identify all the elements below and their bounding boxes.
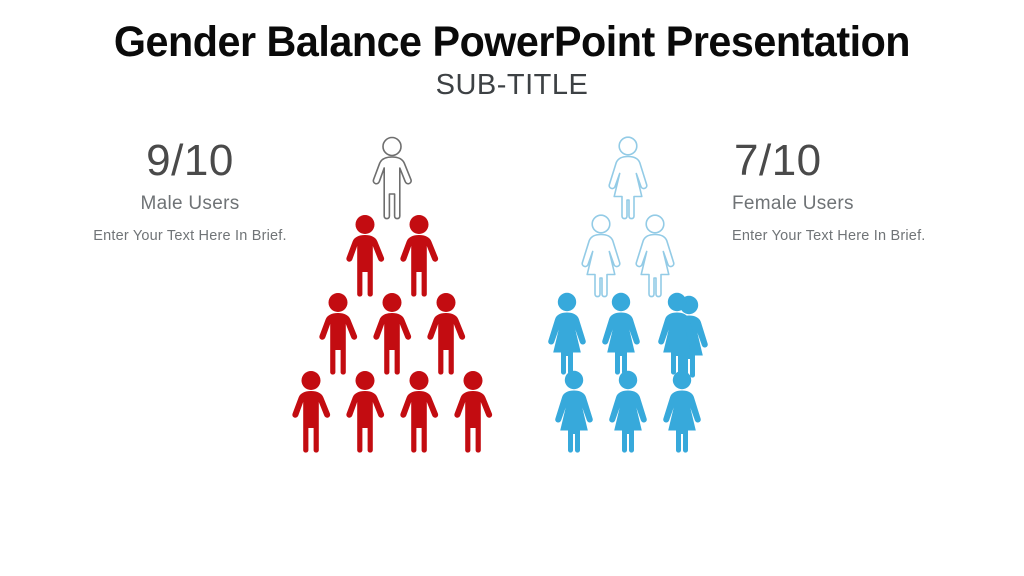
- male-row-4: [292, 368, 492, 454]
- female-figure-icon-filled: [546, 368, 602, 454]
- male-figure-icon-filled: [390, 368, 448, 454]
- female-figure-icon-filled-pair: [647, 290, 717, 376]
- female-figure-icon-filled: [593, 290, 649, 376]
- female-row-1: [528, 134, 728, 220]
- female-label: Female Users: [732, 192, 1024, 216]
- page-title: Gender Balance PowerPoint Presentation: [20, 18, 1003, 66]
- female-figure-icon-filled: [539, 290, 595, 376]
- male-pictogram-pyramid: [292, 134, 492, 454]
- male-figure-icon-filled: [282, 368, 340, 454]
- slide-canvas: Gender Balance PowerPoint Presentation S…: [0, 0, 1024, 576]
- page-subtitle: SUB-TITLE: [0, 68, 1024, 102]
- male-figure-icon-filled: [309, 290, 367, 376]
- female-ratio: 7/10: [732, 136, 1024, 186]
- female-figure-icon-outline: [600, 134, 656, 220]
- female-stats-panel: 7/10 Female Users Enter Your Text Here I…: [732, 136, 1024, 246]
- male-figure-icon-filled: [336, 212, 394, 298]
- male-figure-icon-filled: [336, 368, 394, 454]
- male-figure-icon-filled: [417, 290, 475, 376]
- male-row-1: [292, 134, 492, 220]
- female-row-2: [528, 212, 728, 298]
- female-row-3: [528, 290, 728, 376]
- female-figure-icon-filled: [600, 368, 656, 454]
- male-figure-icon-outline: [363, 134, 421, 220]
- male-row-3: [292, 290, 492, 376]
- female-row-4: [528, 368, 728, 454]
- female-figure-icon-filled: [649, 290, 705, 376]
- female-pictogram-pyramid: [528, 134, 728, 454]
- female-figure-icon-filled: [654, 368, 710, 454]
- male-figure-icon-filled: [363, 290, 421, 376]
- male-figure-icon-filled: [444, 368, 502, 454]
- female-figure-icon-outline: [573, 212, 629, 298]
- female-figure-icon-outline: [627, 212, 683, 298]
- male-figure-icon-filled: [390, 212, 448, 298]
- female-brief-text: Enter Your Text Here In Brief.: [732, 226, 1024, 246]
- male-row-2: [292, 212, 492, 298]
